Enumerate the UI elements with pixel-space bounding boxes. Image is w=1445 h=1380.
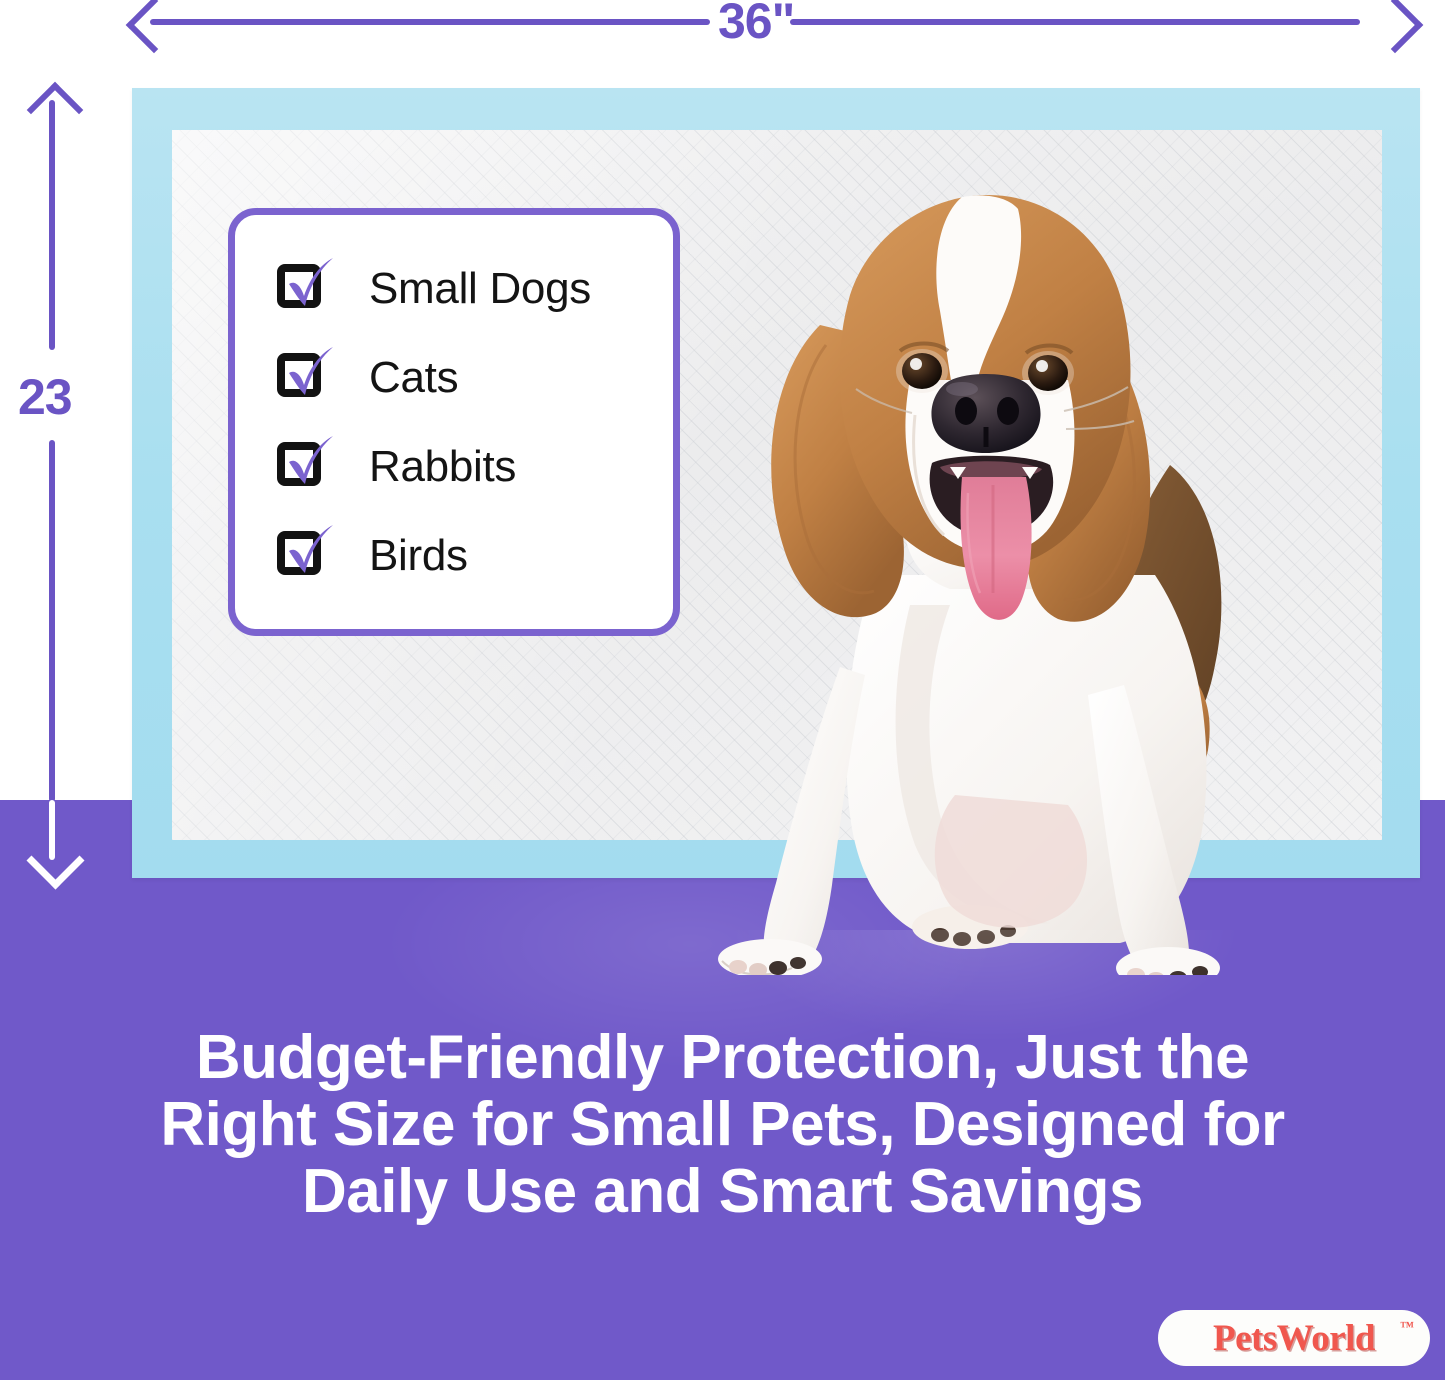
list-item[interactable]: Small Dogs xyxy=(275,244,673,333)
list-item[interactable]: Birds xyxy=(275,511,673,600)
height-arrow-up-icon xyxy=(27,82,84,139)
checkmark-glyph xyxy=(275,519,337,581)
list-item[interactable]: Rabbits xyxy=(275,422,673,511)
width-arrow-right-icon xyxy=(1367,0,1424,53)
checkbox-checked-icon[interactable] xyxy=(275,436,337,498)
brand-name: PetsWorld xyxy=(1213,1317,1375,1360)
checkbox-checked-icon[interactable] xyxy=(275,347,337,409)
brand-logo: PetsWorld ™ xyxy=(1158,1310,1430,1366)
list-item-label: Cats xyxy=(369,353,458,403)
checkmark-glyph xyxy=(275,341,337,403)
trademark-symbol: ™ xyxy=(1400,1320,1414,1336)
width-arrow-left-icon xyxy=(126,0,183,53)
checkbox-checked-icon[interactable] xyxy=(275,525,337,587)
headline-line-3: Daily Use and Smart Savings xyxy=(0,1159,1445,1226)
headline-line-2: Right Size for Small Pets, Designed for xyxy=(0,1092,1445,1159)
list-item-label: Birds xyxy=(369,531,468,581)
beagle-dog-photo xyxy=(700,175,1275,975)
headline-line-1: Budget-Friendly Protection, Just the xyxy=(0,1025,1445,1092)
list-item-label: Small Dogs xyxy=(369,264,591,314)
width-dimension-line-right xyxy=(790,19,1360,25)
height-dimension-line-lower-purple xyxy=(49,440,55,802)
height-dimension-line-upper xyxy=(49,100,55,350)
checkmark-glyph xyxy=(275,430,337,492)
width-dimension-line-left xyxy=(150,19,710,25)
list-item[interactable]: Cats xyxy=(275,333,673,422)
headline-text: Budget-Friendly Protection, Just the Rig… xyxy=(0,1025,1445,1226)
list-item-label: Rabbits xyxy=(369,442,516,492)
checkbox-checked-icon[interactable] xyxy=(275,258,337,320)
height-dimension-label: 23 xyxy=(18,368,72,426)
checkmark-glyph xyxy=(275,252,337,314)
suitable-pets-checklist-card: Small Dogs Cats Rabbits xyxy=(228,208,680,636)
width-dimension-label: 36" xyxy=(718,0,794,50)
product-marketing-image: 36" 23 Small Dogs Cats xyxy=(0,0,1445,1380)
